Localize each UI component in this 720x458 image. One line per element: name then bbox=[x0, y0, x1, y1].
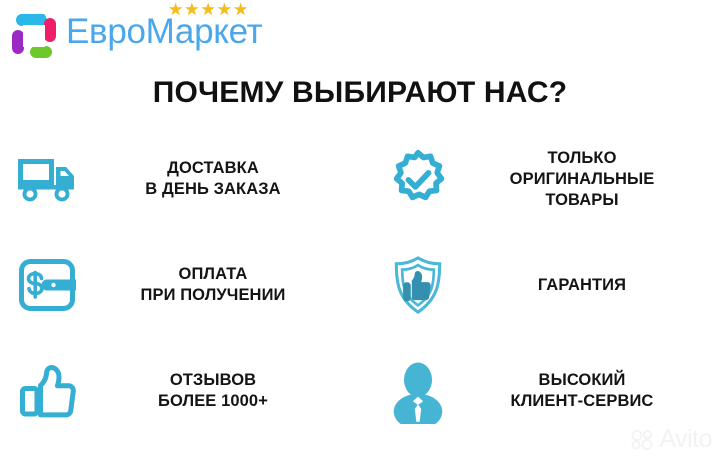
person-with-tie-icon bbox=[360, 358, 446, 424]
delivery-truck-icon bbox=[0, 155, 86, 203]
page-title: ПОЧЕМУ ВЫБИРАЮТ НАС? bbox=[0, 76, 720, 110]
star-icon: ★ bbox=[168, 1, 183, 18]
feature-item-payment-on-delivery: ОПЛАТА ПРИ ПОЛУЧЕНИИ bbox=[0, 232, 360, 338]
brand-lockup: ★ ★ ★ ★ ★ ЕвроМаркет bbox=[10, 7, 262, 60]
star-icon: ★ bbox=[201, 1, 216, 18]
banner-header: ★ ★ ★ ★ ★ ЕвроМаркет bbox=[0, 0, 720, 66]
feature-label: ДОСТАВКА В ДЕНЬ ЗАКАЗА bbox=[86, 158, 360, 200]
feature-label: ОПЛАТА ПРИ ПОЛУЧЕНИИ bbox=[86, 264, 360, 306]
feature-label: ТОЛЬКО ОРИГИНАЛЬНЫЕ ТОВАРЫ bbox=[446, 148, 720, 211]
star-icon: ★ bbox=[233, 1, 248, 18]
promo-banner: { "brand": { "name": "ЕвроМаркет", "logo… bbox=[0, 0, 720, 458]
feature-item-reviews: ОТЗЫВОВ БОЛЕЕ 1000+ bbox=[0, 338, 360, 444]
avito-logo-icon bbox=[631, 430, 655, 450]
brand-text-wrap: ★ ★ ★ ★ ★ ЕвроМаркет bbox=[66, 7, 262, 53]
feature-item-warranty: ГАРАНТИЯ bbox=[360, 232, 720, 338]
shield-thumbs-up-icon bbox=[360, 252, 446, 318]
feature-label: ГАРАНТИЯ bbox=[446, 275, 720, 296]
star-icon: ★ bbox=[217, 1, 232, 18]
thumbs-up-outline-icon bbox=[0, 362, 86, 420]
verified-badge-check-icon bbox=[360, 147, 446, 211]
feature-item-delivery: ДОСТАВКА В ДЕНЬ ЗАКАЗА bbox=[0, 126, 360, 232]
feature-label: ВЫСОКИЙ КЛИЕНТ-СЕРВИС bbox=[446, 370, 720, 412]
avito-watermark-text: Avito bbox=[659, 427, 712, 452]
wallet-dollar-icon bbox=[0, 256, 86, 314]
feature-label: ОТЗЫВОВ БОЛЕЕ 1000+ bbox=[86, 370, 360, 412]
feature-grid: ДОСТАВКА В ДЕНЬ ЗАКАЗА ТОЛЬКО ОРИГИНАЛЬН… bbox=[0, 126, 720, 444]
star-icon: ★ bbox=[184, 1, 199, 18]
avito-watermark: Avito bbox=[631, 427, 712, 452]
feature-item-original-goods: ТОЛЬКО ОРИГИНАЛЬНЫЕ ТОВАРЫ bbox=[360, 126, 720, 232]
four-color-square-logo-icon bbox=[10, 12, 58, 60]
rating-stars: ★ ★ ★ ★ ★ bbox=[168, 1, 248, 18]
